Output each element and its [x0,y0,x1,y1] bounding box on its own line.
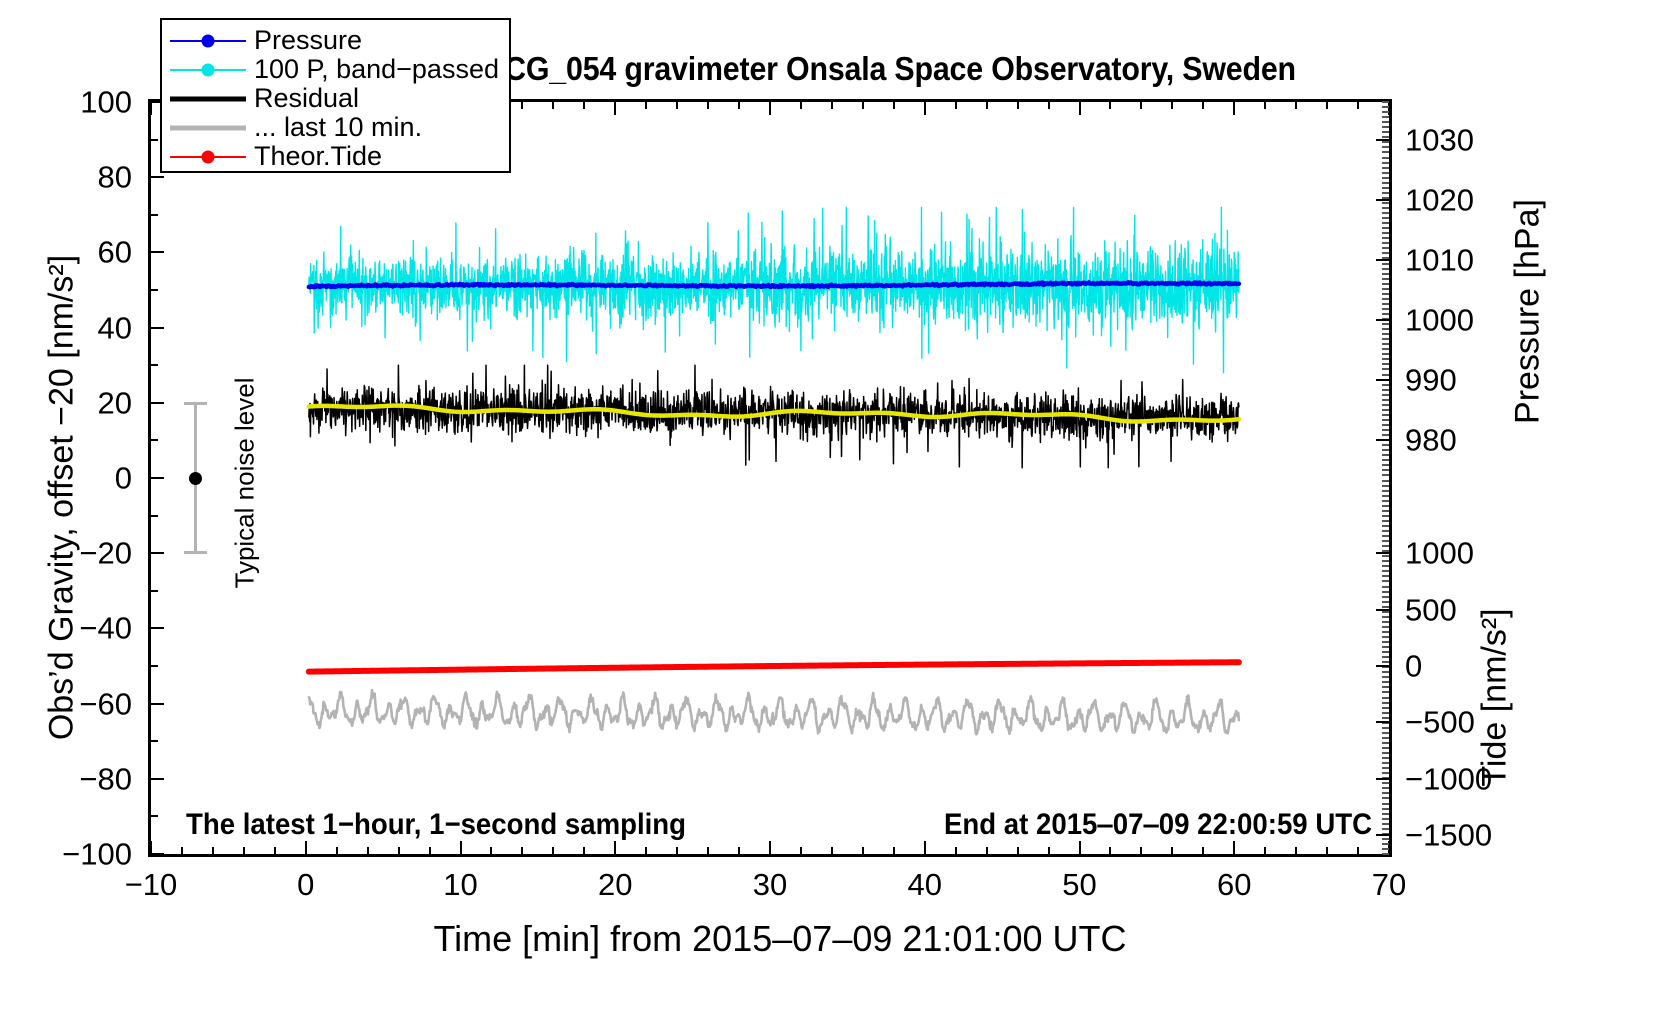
x-tick [738,847,740,854]
y-right-pressure-label: 980 [1405,425,1457,456]
y-right-minor-tick [1382,232,1389,234]
y-right-minor-tick [1382,727,1389,729]
x-tick-label: 60 [1217,869,1251,900]
x-tick-top [150,102,152,115]
y-right-minor-tick [1382,808,1389,810]
y-right-minor-tick [1382,298,1389,300]
x-axis-title: Time [min] from 2015‒07‒09 21:01:00 UTC [0,918,1560,960]
y-right-minor-tick [1382,611,1389,613]
x-tick-label: 70 [1372,869,1406,900]
y-right-minor-tick [1382,217,1389,219]
y-right-minor-tick [1382,500,1389,502]
y-right-minor-tick [1382,555,1389,557]
plot-area [148,99,1392,857]
noise-cap-bottom [184,551,207,554]
y-right-minor-tick [1382,353,1389,355]
y-right-minor-tick [1382,263,1389,265]
x-tick-top [1109,102,1111,109]
y-right-minor-tick [1382,631,1389,633]
y-left-tick [151,439,158,441]
series-last10-path [309,690,1239,734]
x-tick-top [1171,102,1173,109]
y-left-tick [151,402,164,404]
series-tide-path [309,662,1239,671]
y-right-minor-tick [1382,540,1389,542]
y-right-minor-tick [1382,823,1389,825]
y-right-tide-tick-major [1376,609,1389,611]
y-right-minor-tick [1382,545,1389,547]
y-right-minor-tick [1382,283,1389,285]
noise-level-label: Typical noise level [230,379,261,589]
y-right-minor-tick [1382,843,1389,845]
y-right-minor-tick [1382,247,1389,249]
y-right-minor-tick [1382,485,1389,487]
y-right-pressure-label: 990 [1405,365,1457,396]
x-tick [1109,847,1111,854]
y-right-minor-tick [1382,596,1389,598]
y-right-minor-tick [1382,399,1389,401]
y-right-minor-tick [1382,707,1389,709]
x-tick-top [862,102,864,109]
y-left-tick [151,214,158,216]
y-left-tick [151,627,164,629]
y-right-minor-tick [1382,338,1389,340]
y-right-minor-tick [1382,348,1389,350]
legend-label-pressure: Pressure [254,27,362,54]
y-right-tide-tick-major [1376,721,1389,723]
x-tick [1140,847,1142,854]
y-right-minor-tick [1382,424,1389,426]
y-right-minor-tick [1382,333,1389,335]
legend-item-bandpassed: 100 P, band−passed [162,55,509,84]
y-right-minor-tick [1382,141,1389,143]
legend-label-tide: Theor.Tide [254,143,382,170]
y-right-minor-tick [1382,182,1389,184]
y-right-pressure-tick-major [1376,259,1389,261]
y-left-tick [151,477,164,479]
x-tick [800,847,802,854]
y-right-minor-tick [1382,510,1389,512]
y-right-minor-tick [1382,616,1389,618]
y-right-minor-tick [1382,792,1389,794]
y-left-tick [151,139,158,141]
x-tick-label: 30 [753,869,787,900]
x-tick [924,841,926,854]
y-right-minor-tick [1382,717,1389,719]
y-right-minor-tick [1382,747,1389,749]
y-right-pressure-label: 1000 [1405,305,1474,336]
y-right-minor-tick [1382,646,1389,648]
y-right-minor-tick [1382,621,1389,623]
y-right-minor-tick [1382,288,1389,290]
y-right-minor-tick [1382,732,1389,734]
y-right-minor-tick [1382,712,1389,714]
x-tick [212,847,214,854]
y-right-minor-tick [1382,167,1389,169]
x-tick [1326,847,1328,854]
y-right-minor-tick [1382,459,1389,461]
legend-swatch-pressure [162,26,254,55]
y-right-minor-tick [1382,268,1389,270]
y-right-minor-tick [1382,742,1389,744]
y-right-minor-tick [1382,575,1389,577]
x-tick [243,847,245,854]
legend-swatch-residual [162,84,254,113]
y-right-minor-tick [1382,691,1389,693]
legend-item-residual: Residual [162,84,509,113]
y-right-minor-tick [1382,374,1389,376]
y-right-minor-tick [1382,560,1389,562]
y-right-minor-tick [1382,626,1389,628]
y-right-minor-tick [1382,308,1389,310]
x-tick [862,847,864,854]
x-tick [1079,841,1081,854]
y-right-minor-tick [1382,651,1389,653]
x-tick [707,847,709,854]
x-tick [1264,847,1266,854]
legend-label-residual: Residual [254,85,359,112]
y-right-minor-tick [1382,434,1389,436]
y-right-minor-tick [1382,697,1389,699]
y-right-tide-label: 1000 [1405,538,1474,569]
x-tick [398,847,400,854]
y-right-minor-tick [1382,757,1389,759]
y-right-minor-tick [1382,131,1389,133]
y-right-minor-tick [1382,606,1389,608]
x-tick [1357,847,1359,854]
y-right-minor-tick [1382,772,1389,774]
y-left-tick [151,703,164,705]
x-tick-label: 50 [1062,869,1096,900]
y-right-minor-tick [1382,464,1389,466]
y-right-minor-tick [1382,323,1389,325]
y-right-minor-tick [1382,702,1389,704]
y-right-minor-tick [1382,409,1389,411]
y-right-minor-tick [1382,106,1389,108]
y-right-minor-tick [1382,404,1389,406]
x-tick-top [769,102,771,115]
y-right-tide-tick-major [1376,552,1389,554]
y-left-tick [151,552,164,554]
y-left-tick [151,740,158,742]
x-tick-top [924,102,926,115]
y-right-minor-tick [1382,111,1389,113]
y-right-minor-tick [1382,767,1389,769]
y-right-minor-tick [1382,368,1389,370]
x-tick-top [676,102,678,109]
y-left-tick [151,515,158,517]
x-tick [460,841,462,854]
x-tick [1048,847,1050,854]
y-right-minor-tick [1382,157,1389,159]
y-right-pressure-tick-major [1376,199,1389,201]
y-right-minor-tick [1382,636,1389,638]
chart-page: SCG_054 gravimeter Onsala Space Observat… [0,0,1660,1020]
x-tick-top [1357,102,1359,109]
y-right-tide-tick-major [1376,778,1389,780]
y-right-minor-tick [1382,515,1389,517]
x-tick-top [521,102,523,109]
y-right-minor-tick [1382,469,1389,471]
y-right-minor-tick [1382,202,1389,204]
y-right-minor-tick [1382,444,1389,446]
y-right-minor-tick [1382,797,1389,799]
y-right-minor-tick [1382,394,1389,396]
y-right-minor-tick [1382,601,1389,603]
y-right-pressure-tick-major [1376,439,1389,441]
y-right-minor-tick [1382,525,1389,527]
x-tick [986,847,988,854]
y-right-minor-tick [1382,813,1389,815]
x-tick-top [1295,102,1297,109]
y-right-minor-tick [1382,661,1389,663]
x-tick-label: 0 [297,869,314,900]
y-right-pressure-tick-major [1376,379,1389,381]
x-tick-top [1140,102,1142,109]
y-left-tick [151,665,158,667]
x-tick [1202,847,1204,854]
y-left-tick [151,289,158,291]
y-right-minor-tick [1382,752,1389,754]
y-right-minor-tick [1382,227,1389,229]
x-tick [1295,847,1297,854]
x-tick-label: −10 [125,869,178,900]
x-tick [645,847,647,854]
y-axis-left-title: Obs’d Gravity, offset −20 [nm/s²] [43,118,82,878]
x-tick [367,847,369,854]
y-right-minor-tick [1382,449,1389,451]
y-right-minor-tick [1382,474,1389,476]
legend-label-last10: ... last 10 min. [254,114,422,141]
x-tick-top [893,102,895,109]
y-right-minor-tick [1382,313,1389,315]
y-right-minor-tick [1382,278,1389,280]
y-left-tick [151,251,164,253]
y-right-minor-tick [1382,818,1389,820]
y-right-minor-tick [1382,192,1389,194]
sampling-note: The latest 1−hour, 1−second sampling [186,808,686,842]
x-tick [490,847,492,854]
y-right-minor-tick [1382,828,1389,830]
x-tick-top [645,102,647,109]
x-tick [521,847,523,854]
y-right-minor-tick [1382,273,1389,275]
y-right-minor-tick [1382,580,1389,582]
typical-noise-level-annotation: Typical noise level [182,396,302,566]
x-tick [274,847,276,854]
y-left-tick [151,364,158,366]
y-right-minor-tick [1382,586,1389,588]
y-right-minor-tick [1382,671,1389,673]
y-right-minor-tick [1382,126,1389,128]
y-right-minor-tick [1382,121,1389,123]
x-tick [1017,847,1019,854]
y-right-minor-tick [1382,641,1389,643]
y-right-minor-tick [1382,172,1389,174]
y-right-minor-tick [1382,535,1389,537]
y-right-minor-tick [1382,358,1389,360]
y-right-minor-tick [1382,656,1389,658]
x-tick-top [1202,102,1204,109]
y-right-minor-tick [1382,101,1389,103]
plot-traces [151,102,1389,854]
x-tick-top [738,102,740,109]
y-right-minor-tick [1382,762,1389,764]
y-right-minor-tick [1382,591,1389,593]
y-right-minor-tick [1382,429,1389,431]
y-right-minor-tick [1382,363,1389,365]
y-right-minor-tick [1382,187,1389,189]
x-tick-top [1326,102,1328,109]
y-right-minor-tick [1382,146,1389,148]
y-right-minor-tick [1382,737,1389,739]
y-right-minor-tick [1382,505,1389,507]
y-right-minor-tick [1382,454,1389,456]
x-tick [614,841,616,854]
y-right-minor-tick [1382,162,1389,164]
y-right-minor-tick [1382,565,1389,567]
x-tick-label: 10 [443,869,477,900]
y-right-minor-tick [1382,389,1389,391]
x-tick-top [707,102,709,109]
series-bandpassed-path [309,207,1239,372]
y-right-minor-tick [1382,787,1389,789]
legend-swatch-last10 [162,113,254,142]
y-left-tick [151,815,158,817]
x-tick [1171,847,1173,854]
y-left-tick [151,590,158,592]
x-tick [552,847,554,854]
y-right-minor-tick [1382,343,1389,345]
x-tick [429,847,431,854]
y-right-pressure-label: 1030 [1405,124,1474,155]
x-tick [305,841,307,854]
noise-center-dot [189,472,202,485]
y-right-minor-tick [1382,480,1389,482]
y-right-minor-tick [1382,303,1389,305]
y-right-pressure-label: 1010 [1405,244,1474,275]
y-right-minor-tick [1382,848,1389,850]
y-right-tide-label: 0 [1405,651,1422,682]
y-right-minor-tick [1382,384,1389,386]
y-right-pressure-tick-major [1376,319,1389,321]
legend-item-tide: Theor.Tide [162,142,509,171]
x-tick [893,847,895,854]
y-right-tide-label: −500 [1405,707,1475,738]
y-right-minor-tick [1382,530,1389,532]
y-right-tide-tick-major [1376,834,1389,836]
y-axis-tide-title: Tide [nm/s²] [1476,533,1515,863]
x-tick [955,847,957,854]
x-tick-top [831,102,833,109]
x-tick-top [1079,102,1081,115]
y-right-minor-tick [1382,328,1389,330]
x-tick-top [552,102,554,109]
x-tick [336,847,338,854]
x-tick-top [1048,102,1050,109]
y-right-minor-tick [1382,293,1389,295]
y-right-pressure-label: 1020 [1405,184,1474,215]
y-left-tick [151,176,164,178]
y-right-minor-tick [1382,242,1389,244]
y-right-minor-tick [1382,520,1389,522]
legend: Pressure 100 P, band−passed Residual ...… [160,18,511,173]
y-left-tick [151,327,164,329]
x-tick-top [1233,102,1235,115]
legend-swatch-bandpassed [162,55,254,84]
page-title: SCG_054 gravimeter Onsala Space Observat… [375,50,1405,88]
legend-swatch-tide [162,142,254,171]
y-right-minor-tick [1382,853,1389,855]
plot-clip [151,102,1389,854]
y-left-tick-label: 100 [0,87,132,118]
x-tick-top [583,102,585,109]
x-tick-top [800,102,802,109]
y-right-minor-tick [1382,838,1389,840]
y-right-minor-tick [1382,681,1389,683]
legend-item-last10: ... last 10 min. [162,113,509,142]
x-tick-top [1264,102,1266,109]
y-right-minor-tick [1382,414,1389,416]
y-right-minor-tick [1382,207,1389,209]
y-right-minor-tick [1382,419,1389,421]
x-tick-top [614,102,616,115]
y-right-minor-tick [1382,151,1389,153]
y-left-tick [151,853,164,855]
y-right-tide-label: 500 [1405,594,1457,625]
y-right-pressure-tick-major [1376,139,1389,141]
x-tick-label: 40 [908,869,942,900]
x-tick [181,847,183,854]
y-right-minor-tick [1382,570,1389,572]
y-axis-pressure-title: Pressure [hPa] [1509,102,1548,522]
y-right-minor-tick [1382,116,1389,118]
y-right-tide-tick-major [1376,665,1389,667]
x-tick-top [1017,102,1019,109]
y-right-minor-tick [1382,252,1389,254]
y-right-minor-tick [1382,212,1389,214]
y-left-tick [151,778,164,780]
noise-cap-top [184,402,207,405]
legend-item-pressure: Pressure [162,26,509,55]
y-right-minor-tick [1382,222,1389,224]
y-right-minor-tick [1382,237,1389,239]
end-time-note: End at 2015‒07‒09 22:00:59 UTC [944,808,1372,842]
x-tick-top [955,102,957,109]
y-right-minor-tick [1382,490,1389,492]
legend-label-bandpassed: 100 P, band−passed [254,56,499,83]
x-tick-label: 20 [598,869,632,900]
y-right-minor-tick [1382,803,1389,805]
y-right-minor-tick [1382,177,1389,179]
x-tick [676,847,678,854]
y-right-minor-tick [1382,676,1389,678]
y-right-minor-tick [1382,782,1389,784]
x-tick [831,847,833,854]
y-right-minor-tick [1382,495,1389,497]
x-tick-top [986,102,988,109]
x-tick [583,847,585,854]
y-right-minor-tick [1382,686,1389,688]
x-tick [1233,841,1235,854]
x-tick [769,841,771,854]
